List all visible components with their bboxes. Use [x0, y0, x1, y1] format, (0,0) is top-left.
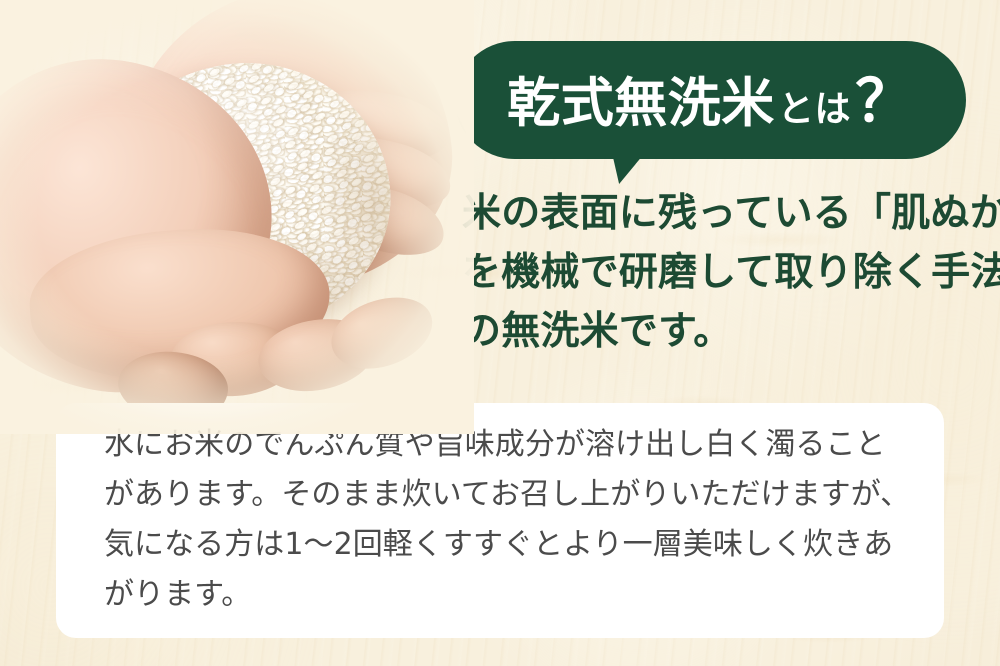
- note-line-4: がります。: [104, 570, 904, 620]
- promo-banner: 乾式無洗米 とは ？ 米の表面に残っている「肌ぬか」 を機械で研磨して取り除く手…: [0, 0, 1000, 666]
- lead-line-1: 米の表面に残っている「肌ぬか」: [462, 184, 982, 243]
- note-line-2: があります。そのまま炊いてお召し上がりいただけますが、: [104, 470, 904, 520]
- note-line-3: 気になる方は1〜2回軽くすすぐとより一層美味しく炊きあ: [104, 520, 904, 570]
- note-line-1: 水にお米のでんぷん質や旨味成分が溶け出し白く濁ること: [104, 420, 904, 470]
- bubble-title-kanji: 乾式無洗米: [507, 77, 775, 130]
- bubble-title-kana: とは: [775, 92, 851, 128]
- speech-bubble: 乾式無洗米 とは ？: [455, 41, 966, 159]
- bubble-title: 乾式無洗米 とは ？: [507, 72, 914, 130]
- lead-paragraph: 米の表面に残っている「肌ぬか」 を機械で研磨して取り除く手法 の無洗米です。: [462, 184, 982, 361]
- lead-line-2: を機械で研磨して取り除く手法: [462, 243, 982, 302]
- note-card: 水にお米のでんぷん質や旨味成分が溶け出し白く濁ること があります。そのまま炊いて…: [56, 403, 944, 638]
- lead-line-3: の無洗米です。: [462, 302, 982, 361]
- note-card-text: 水にお米のでんぷん質や旨味成分が溶け出し白く濁ること があります。そのまま炊いて…: [104, 420, 904, 620]
- bubble-title-question-mark: ？: [851, 72, 914, 130]
- hands-holding-rice-photo: [0, 0, 444, 424]
